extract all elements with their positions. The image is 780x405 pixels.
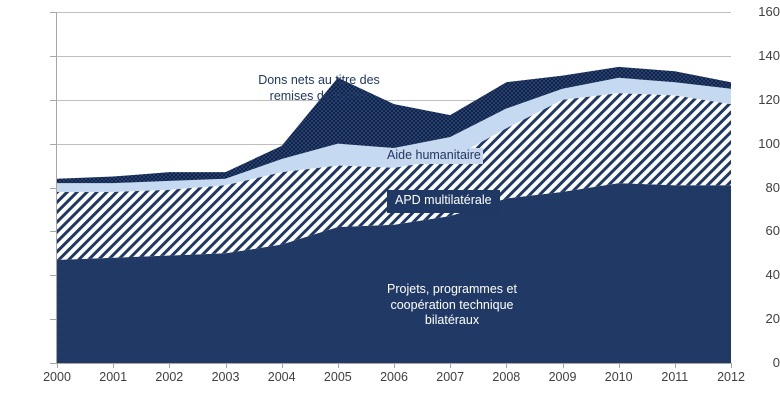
x-axis-tick [113, 363, 114, 368]
bilateral-label-line1: Projets, programmes et [357, 282, 547, 298]
y-axis-tick-label: 160 [736, 5, 780, 18]
humanitarian-label: Aide humanitaire [385, 148, 483, 164]
x-axis-tick [169, 363, 170, 368]
y-axis-tick-label: 40 [736, 268, 780, 281]
x-axis-tick-label: 2001 [83, 371, 143, 384]
bilateral-label-line2: coopération technique [357, 298, 547, 314]
x-axis-tick [450, 363, 451, 368]
y-axis-tick-label: 80 [736, 181, 780, 194]
debt-relief-label-line2: remises de dettes [235, 89, 403, 105]
x-axis-tick [563, 363, 564, 368]
y-axis-tick-label: 100 [736, 137, 780, 150]
x-axis-tick [675, 363, 676, 368]
bilateral-label-line3: bilatéraux [357, 313, 547, 329]
x-axis-tick-label: 2007 [420, 371, 480, 384]
x-axis-tick [282, 363, 283, 368]
x-axis-tick-label: 2011 [645, 371, 705, 384]
plot-area: Dons nets au titre des remises de dettes… [57, 12, 731, 363]
x-axis-tick [394, 363, 395, 368]
y-axis-tick-label: 60 [736, 224, 780, 237]
x-axis-tick-label: 2009 [533, 371, 593, 384]
x-axis-tick-label: 2004 [252, 371, 312, 384]
x-axis-tick [57, 363, 58, 368]
x-axis-tick-label: 2005 [308, 371, 368, 384]
x-axis-tick [338, 363, 339, 368]
y-axis-tick-label: 20 [736, 312, 780, 325]
debt-relief-label-line1: Dons nets au titre des [235, 73, 403, 89]
x-axis-tick-label: 2000 [27, 371, 87, 384]
x-axis-tick [619, 363, 620, 368]
x-axis-tick-label: 2006 [364, 371, 424, 384]
x-axis-tick-label: 2002 [139, 371, 199, 384]
bilateral-label: Projets, programmes et coopération techn… [357, 282, 547, 329]
y-axis-tick-label: 120 [736, 93, 780, 106]
stacked-area-chart: 020406080100120140160 [0, 0, 780, 405]
y-axis-tick-label: 140 [736, 49, 780, 62]
x-axis-tick [226, 363, 227, 368]
x-axis-tick-label: 2010 [589, 371, 649, 384]
debt-relief-label: Dons nets au titre des remises de dettes [235, 73, 403, 104]
x-axis-tick [506, 363, 507, 368]
multilateral-label: APD multilatérale [387, 190, 500, 213]
x-axis-tick-label: 2012 [701, 371, 761, 384]
y-axis-tick-label: 0 [736, 356, 780, 369]
x-axis-tick-label: 2008 [476, 371, 536, 384]
x-axis-tick-label: 2003 [196, 371, 256, 384]
x-axis-tick [731, 363, 732, 368]
